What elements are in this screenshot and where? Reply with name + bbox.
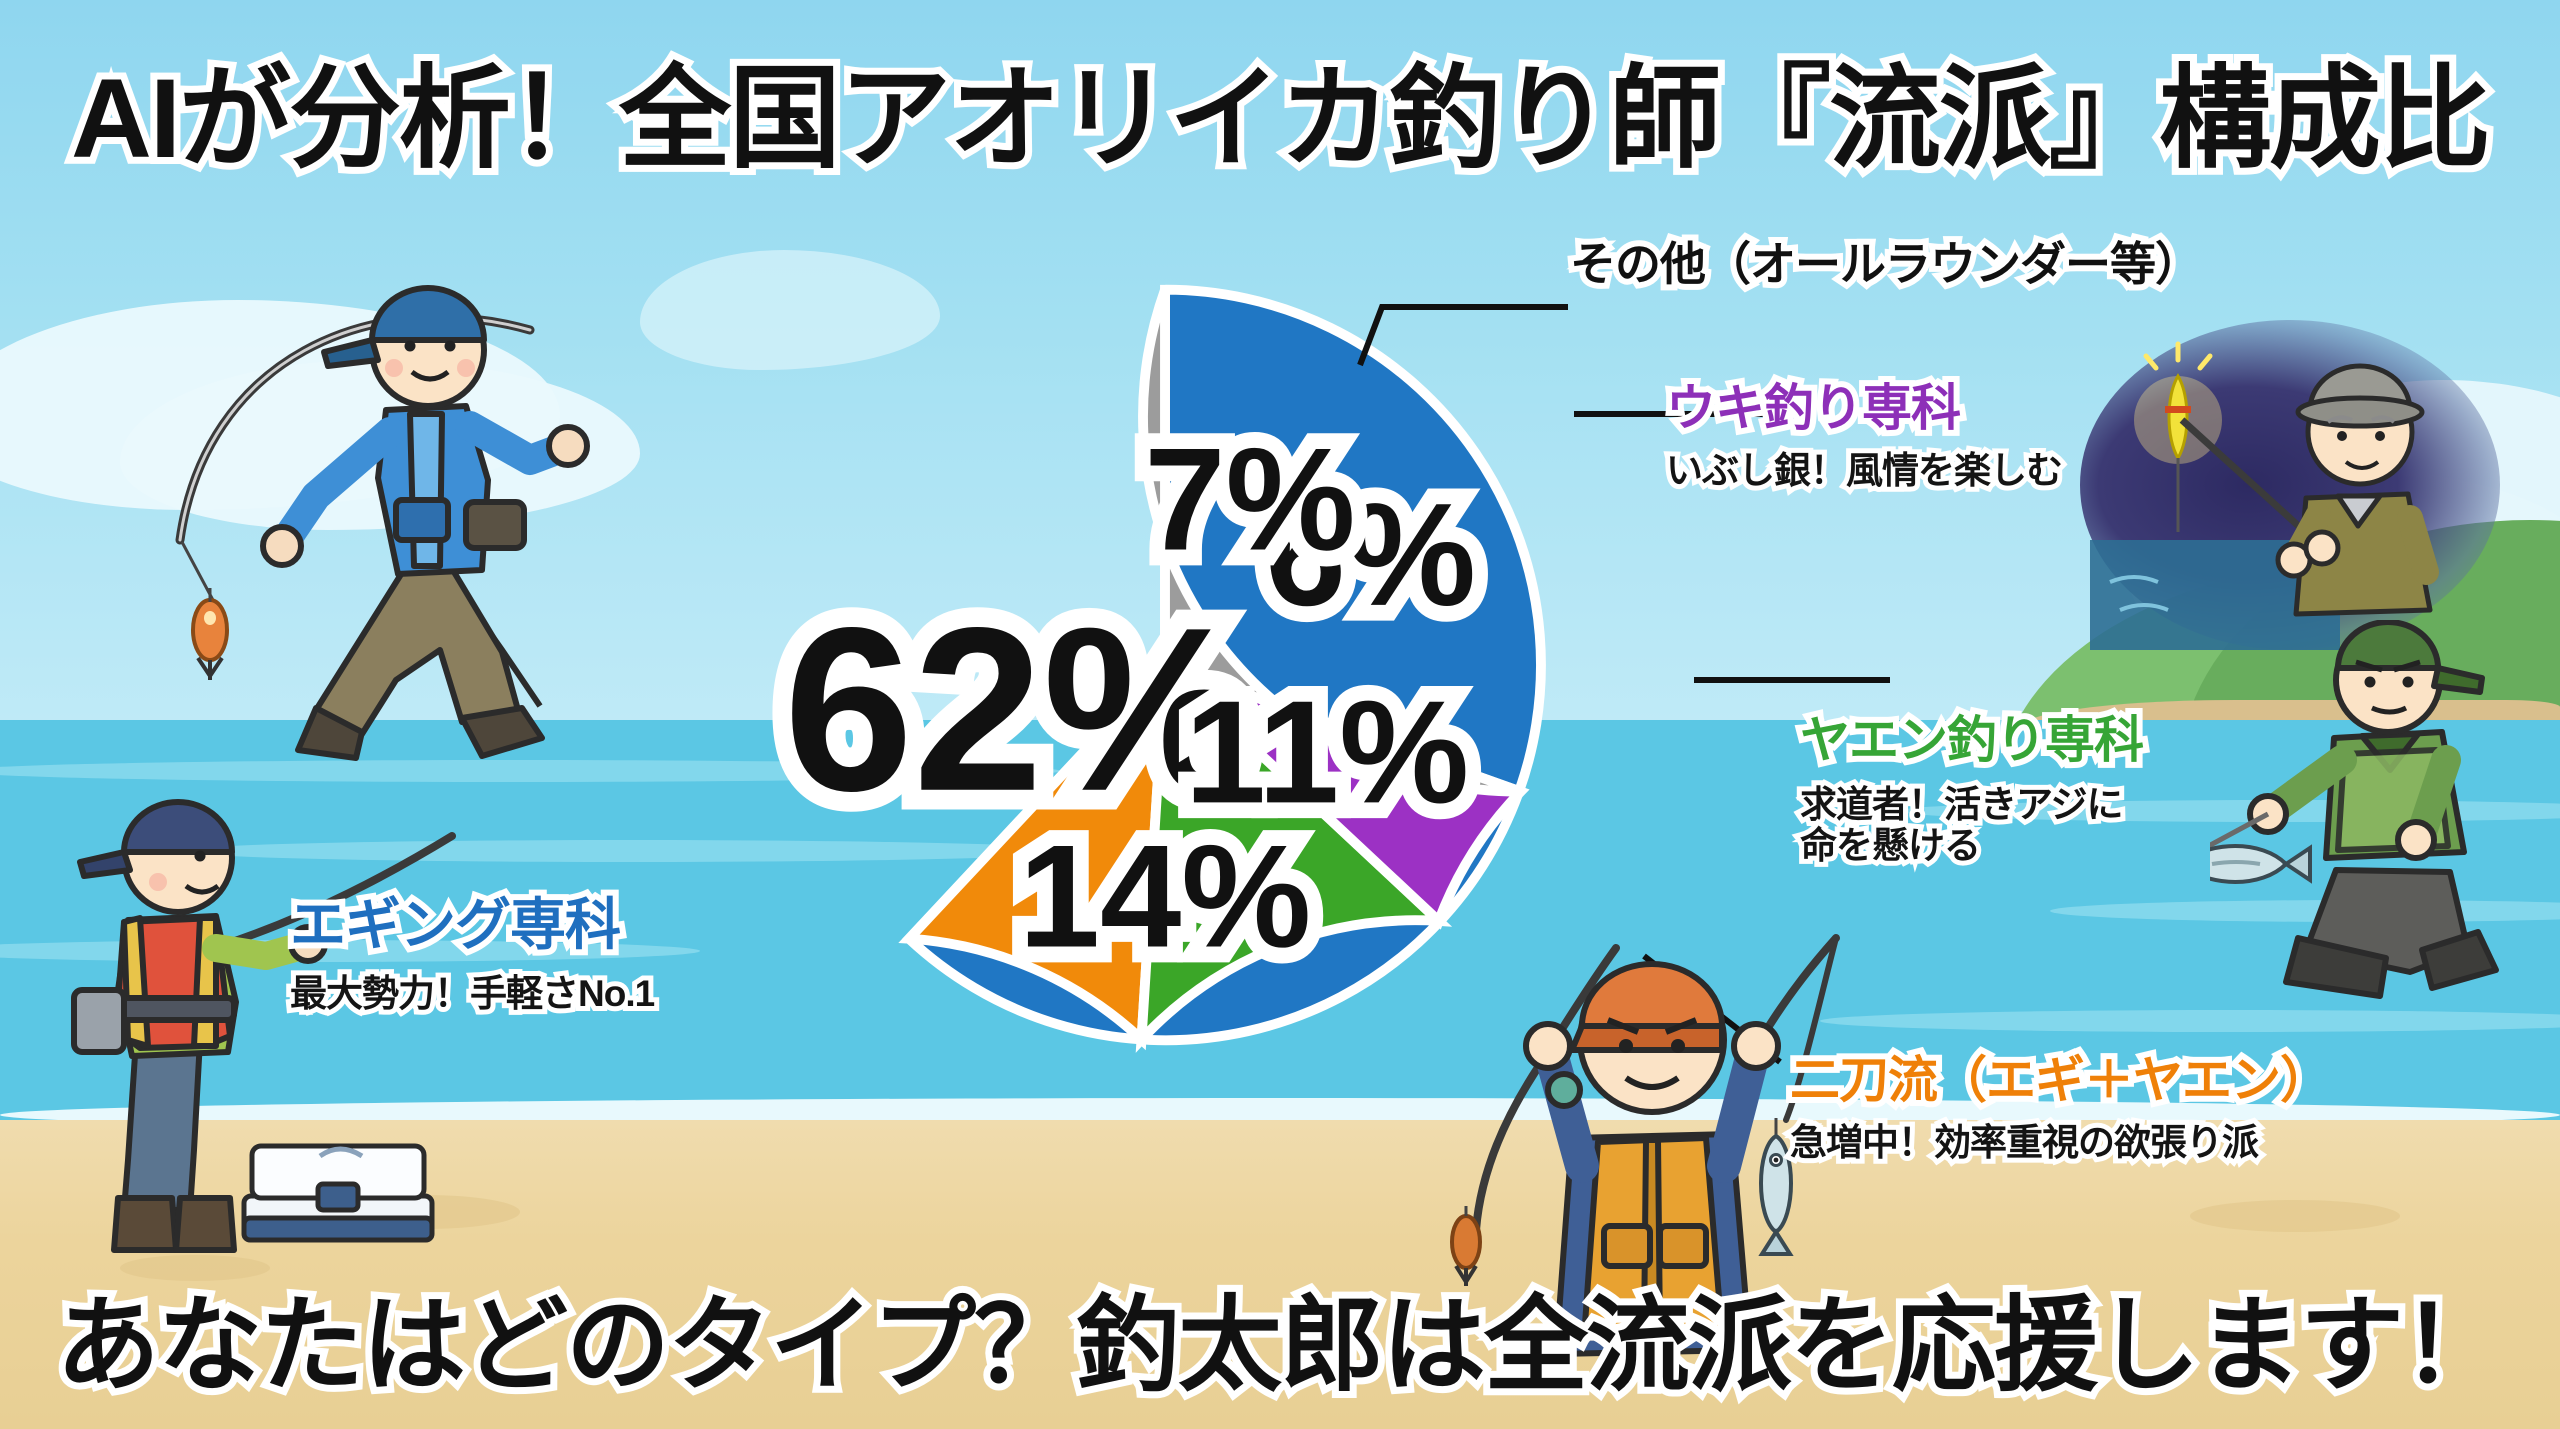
angler-casting-illustration	[110, 210, 750, 770]
callout-yaen-sub-line1: 求道者！活きアジに	[1800, 784, 2143, 825]
callout-yaen: ヤエン釣り専科 求道者！活きアジに 命を懸ける	[1800, 700, 2143, 867]
callout-uki-heading: ウキ釣り専科	[1666, 368, 2062, 440]
pie-label-nitoryu: 14%	[1019, 815, 1312, 978]
callout-other-heading: その他（オールラウンダー等）	[1570, 228, 2200, 294]
tackle-box-illustration	[230, 1100, 450, 1260]
page-title-text: AIが分析！全国アオリイカ釣り師『流派』構成比	[71, 56, 2489, 181]
page-title: AIが分析！全国アオリイカ釣り師『流派』構成比	[0, 28, 2560, 190]
pie-label-eging: 62%	[784, 580, 1250, 840]
callout-uki: ウキ釣り専科 いぶし銀！風情を楽しむ	[1666, 368, 2062, 491]
callout-yaen-heading: ヤエン釣り専科	[1800, 700, 2143, 772]
pie-label-yaen: 11%	[1185, 670, 1469, 833]
footer-text: あなたはどのタイプ？釣太郎は全流派を応援します！	[56, 1288, 2504, 1404]
callout-eging: エギング専科 最大勢力！手軽さNo.1	[290, 880, 654, 1014]
callout-eging-sub: 最大勢力！手軽さNo.1	[290, 973, 654, 1014]
yaen-angler-illustration	[2210, 620, 2560, 1020]
callout-nitoryu-heading: 二刀流（エギ＋ヤエン）	[1790, 1040, 2329, 1112]
footer-banner: あなたはどのタイプ？釣太郎は全流派を応援します！	[0, 1260, 2560, 1411]
callout-yaen-sub-line2: 命を懸ける	[1800, 825, 2143, 866]
callout-other: その他（オールラウンダー等）	[1570, 228, 2200, 294]
elderly-float-angler-illustration	[2090, 310, 2530, 650]
infographic-canvas: AIが分析！全国アオリイカ釣り師『流派』構成比	[0, 0, 2560, 1429]
callout-nitoryu-sub: 急増中！効率重視の欲張り派	[1790, 1122, 2329, 1163]
callout-nitoryu: 二刀流（エギ＋ヤエン） 急増中！効率重視の欲張り派	[1790, 1040, 2329, 1163]
pie-label-other: 7%	[1144, 418, 1355, 581]
sand-texture	[2190, 1200, 2400, 1232]
callout-uki-sub: いぶし銀！風情を楽しむ	[1666, 450, 2062, 491]
callout-eging-heading: エギング専科	[290, 880, 654, 961]
